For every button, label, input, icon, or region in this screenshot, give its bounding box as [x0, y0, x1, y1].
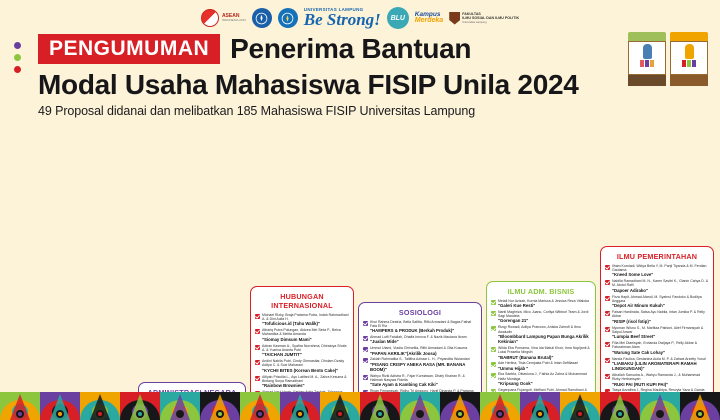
entry-text: Athariq Putra Pulungan, Aldzea Mei Sinta…	[262, 328, 349, 342]
entry-business-name: "Kneed Some Love"	[612, 272, 709, 277]
column-title-hubungan-internasional: HUBUNGAN INTERNASIONAL	[255, 292, 349, 310]
entry-business-name: "PISANG CRISPY ANEKA RASA (MR. BANANA BO…	[370, 362, 477, 372]
entry-text: Firza Hapit, Ahmad Afandi, M. Syahrul Fa…	[612, 295, 709, 309]
entry-student-names: Nabilla Ramadhani M. N., Karen Savitri K…	[612, 279, 709, 288]
entry-text: Michael Rizky, Braja Pratama Putra, Inda…	[262, 313, 349, 327]
blu-logo: BLU	[387, 7, 409, 29]
entry-text: Ade Herlina, Tisla Cempaka Putri & Intan…	[498, 361, 591, 371]
be-strong-logo: UNIVERSITAS LAMPUNG Be Strong!	[304, 7, 381, 28]
food-cart-right	[670, 32, 708, 86]
check-icon	[255, 329, 260, 334]
recipient-entry: Ahmad Lutfi Fatullah, Dhaffa Innova F. &…	[363, 335, 477, 345]
entry-student-names: Zakiah Rahmatika S., Tallitha Azhaar L. …	[370, 357, 477, 361]
entry-text: Athallah Samudra A., Wahyu Ramanda J., &…	[612, 373, 709, 387]
logo-strip: ASEAN INDONESIA 2023 UNIVERSITAS LAMPUNG…	[0, 0, 720, 32]
bottom-pattern-border	[0, 392, 720, 420]
asean-icon	[201, 9, 219, 27]
entry-text: Nanti Maghriza, Mico Juanu, Corliya Wibb…	[498, 310, 591, 324]
entry-text: Nabilla Ramadhani M. N., Karen Savitri K…	[612, 279, 709, 293]
recipient-entry: Eka Saetria, Oktaviona J., Fathia Az Zah…	[491, 372, 591, 386]
pattern-tile	[320, 392, 360, 420]
check-icon	[363, 336, 368, 341]
pattern-tile	[40, 392, 80, 420]
check-icon	[255, 314, 260, 319]
entry-student-names: Faisan Hardinata, Satsa Ayu Nabila, Inta…	[612, 310, 709, 319]
check-icon	[363, 358, 368, 363]
recipient-entry: Michael Rizky, Braja Pratama Putra, Inda…	[255, 313, 349, 327]
check-icon	[255, 345, 260, 350]
pattern-tile	[680, 392, 720, 420]
recipient-entry: Athallah Samudra A., Wahyu Ramanda J., &…	[605, 373, 709, 387]
entry-student-names: Alfiyah Priscilia L., Ayu Latifani M. A.…	[262, 375, 349, 384]
entry-text: Andini Nabila Putri, Cindy Gimnastiar, D…	[262, 359, 349, 373]
entry-text: Wilda Eka Purnama, Vina Ida Matuil Khoir…	[498, 346, 591, 360]
entry-business-name: "Bloombbard Lampung Papan Bunga Akrilik …	[498, 334, 591, 344]
entry-student-names: Ummul Utami, Viadia Chrisellia, Rifki Ar…	[370, 346, 477, 350]
recipient-entry: Adnan Kasman A., Syafira Nurrahma, Dhira…	[255, 344, 349, 358]
recipient-entry: Melati Nur Azizah, Kurnia Marisca & Jess…	[491, 299, 591, 309]
recipient-entry: Firza Hapit, Ahmad Afandi, M. Syahrul Fa…	[605, 295, 709, 309]
recipient-entry: Andini Nabila Putri, Cindy Gimnastiar, D…	[255, 359, 349, 373]
pattern-tile	[440, 392, 480, 420]
entry-student-names: Filia Mei Dianisyah, Ervianda Dwijaya P.…	[612, 341, 709, 350]
pattern-tile	[240, 392, 280, 420]
check-icon	[491, 326, 496, 331]
check-icon	[363, 347, 368, 352]
entry-text: Ahmad Lutfi Fatullah, Dhaffa Innova F. &…	[370, 335, 477, 345]
unila-logo	[278, 8, 298, 28]
pattern-tile	[560, 392, 600, 420]
entry-business-name: "PAPAN AKRILIK"(Akrilik Joosa)	[370, 351, 477, 356]
entry-business-name: "Jualan Mide"	[370, 339, 477, 344]
entry-business-name: "Depot Air Minum Kukuh"	[612, 303, 709, 308]
entry-business-name: "Warung Sate Cak Lohay"	[612, 350, 709, 355]
fisip-line3: Universitas Lampung	[462, 21, 519, 24]
recipient-entry: Ummul Utami, Viadia Chrisellia, Rifki Ar…	[363, 346, 477, 356]
pattern-tile	[200, 392, 240, 420]
entry-business-name: "Sate Ayam & Kambing Cak Kiki"	[370, 382, 477, 387]
entry-text: Khoi Rahma Destria, Bella Safitla, Rifki…	[370, 320, 477, 334]
entry-business-name: "Gorengan 21"	[498, 318, 591, 323]
recipient-entry: Ilham Kurniadi, Widya Bella Y, M. Panji …	[605, 264, 709, 278]
recipient-entry: Nanti Maghriza, Mico Juanu, Corliya Wibb…	[491, 310, 591, 324]
check-icon	[605, 358, 610, 363]
pattern-tile	[120, 392, 160, 420]
check-icon	[605, 327, 610, 332]
entry-business-name: "Dapoer Adirako"	[612, 288, 709, 293]
pattern-tile	[600, 392, 640, 420]
entry-text: Adnan Kasman A., Syafira Nurrahma, Dhira…	[262, 344, 349, 358]
entry-business-name: "TAICHAN JUMTIT"	[262, 352, 349, 357]
page-subtitle: 49 Proposal didanai dan melibatkan 185 M…	[38, 104, 720, 118]
entry-business-name: "RUKI PAI (RUTI KUPI PAI)"	[612, 382, 709, 387]
tutwuri-logo	[252, 8, 272, 28]
recipient-entry: Alfiyah Priscilia L., Ayu Latifani M. A.…	[255, 375, 349, 389]
recipient-entry: Athariq Putra Pulungan, Aldzea Mei Sinta…	[255, 328, 349, 342]
check-icon	[491, 362, 496, 367]
column-title-ilmu-pemerintahan: ILMU PEMERINTAHAN	[605, 252, 709, 261]
entry-business-name: "RISIP (risol fotip)"	[612, 319, 709, 324]
entry-business-name: "Kripsang Ocok"	[498, 381, 591, 386]
check-icon	[255, 360, 260, 365]
entry-business-name: "HAMPERS & PRODUK (Berkah Produk)"	[370, 328, 477, 333]
fisip-logo: FAKULTAS ILMU SOSIAL DAN ILMU POLITIK Un…	[449, 12, 519, 25]
entry-student-names: Athariq Putra Pulungan, Aldzea Mei Sinta…	[262, 328, 349, 337]
check-icon	[363, 321, 368, 326]
page-title-line1: Penerima Bantuan	[230, 35, 471, 63]
recipient-entry: Filia Mei Dianisyah, Ervianda Dwijaya P.…	[605, 341, 709, 355]
entry-student-names: Andini Nabila Putri, Cindy Gimnastiar, D…	[262, 359, 349, 368]
pattern-tile	[520, 392, 560, 420]
entry-student-names: Michael Rizky, Braja Pratama Putra, Inda…	[262, 313, 349, 322]
check-icon	[255, 376, 260, 381]
entry-business-name: "Rainbow Brownies"	[262, 383, 349, 388]
pattern-tile	[0, 392, 40, 420]
pattern-tile	[80, 392, 120, 420]
pattern-tile	[400, 392, 440, 420]
recipient-entry: Rizqy Rowadi, Aditya Pranowo, Aniska Zah…	[491, 325, 591, 344]
pattern-tile	[640, 392, 680, 420]
asean-logo-line2: INDONESIA 2023	[222, 19, 246, 22]
entry-text: Eka Saetria, Oktaviona J., Fathia Az Zah…	[498, 372, 591, 386]
entry-business-name: "LIABAKU (LILIN AROMATERAPI RAMAH LINGKU…	[612, 361, 709, 371]
check-icon	[363, 375, 368, 380]
check-icon	[491, 300, 496, 305]
title-block: PENGUMUMAN Penerima Bantuan Modal Usaha …	[0, 32, 720, 118]
entry-student-names: Rizqy Rowadi, Aditya Pranowo, Aniska Zah…	[498, 325, 591, 334]
entry-student-names: Ilham Kurniadi, Widya Bella Y, M. Panji …	[612, 264, 709, 273]
recipient-entry: Nanda Faulica, Destanina Aulia M. P. & Z…	[605, 357, 709, 372]
recipient-columns: ILMU KOMUNIKASIM Alfindo Maulana, Muhamm…	[0, 118, 720, 420]
entry-business-name: "Tofulicious.id (Tahu Walik)"	[262, 321, 349, 326]
unila-icon	[281, 12, 294, 25]
check-icon	[605, 265, 610, 270]
check-icon	[605, 280, 610, 285]
entry-student-names: Wilda Eka Purnama, Vina Ida Matuil Khoir…	[498, 346, 591, 355]
entry-student-names: Athallah Samudra A., Wahyu Ramanda J., &…	[612, 373, 709, 382]
column-title-ilmu-adm-bisnis: ILMU ADM. BISNIS	[491, 287, 591, 296]
entry-student-names: Nyoman Wisnu S., M. Marlitaa Patrioni, A…	[612, 326, 709, 335]
pattern-tile	[280, 392, 320, 420]
entry-student-names: Wahyu Rizki Adistra R., Fajar Kurniawan,…	[370, 374, 477, 383]
pattern-tile	[480, 392, 520, 420]
entry-text: Rizqy Rowadi, Aditya Pranowo, Aniska Zah…	[498, 325, 591, 344]
food-cart-illustrations	[628, 32, 708, 86]
entry-text: Ilham Kurniadi, Widya Bella Y, M. Panji …	[612, 264, 709, 278]
pengumuman-badge: PENGUMUMAN	[38, 34, 220, 64]
kampus-merdeka-logo: Kampus Merdeka	[415, 12, 443, 25]
pattern-tile	[160, 392, 200, 420]
fisip-shield-icon	[449, 12, 460, 25]
entry-student-names: Eka Saetria, Oktaviona J., Fathia Az Zah…	[498, 372, 591, 381]
entry-student-names: Nanti Maghriza, Mico Juanu, Corliya Wibb…	[498, 310, 591, 319]
entry-text: Nanda Faulica, Destanina Aulia M. P. & Z…	[612, 357, 709, 372]
recipient-entry: Zakiah Rahmatika S., Tallitha Azhaar L. …	[363, 357, 477, 372]
entry-business-name: "Lumpia Beef Street"	[612, 334, 709, 339]
check-icon	[491, 311, 496, 316]
check-icon	[605, 374, 610, 379]
recipient-entry: Wahyu Rizki Adistra R., Fajar Kurniawan,…	[363, 374, 477, 388]
entry-text: Faisan Hardinata, Satsa Ayu Nabila, Inta…	[612, 310, 709, 324]
check-icon	[605, 342, 610, 347]
check-icon	[491, 373, 496, 378]
check-icon	[605, 311, 610, 316]
entry-business-name: "Galeri Kue Resti"	[498, 303, 591, 308]
recipient-entry: Ade Herlina, Tisla Cempaka Putri & Intan…	[491, 361, 591, 371]
entry-business-name: "Ummu Hijab "	[498, 366, 591, 371]
kampus-merdeka-line2: Merdeka	[415, 17, 443, 24]
entry-business-name: "BABRUT (Banana Brutal)"	[498, 355, 591, 360]
entry-text: Melati Nur Azizah, Kurnia Marisca & Jess…	[498, 299, 591, 309]
be-strong-text: Be Strong!	[304, 12, 381, 28]
pattern-tile	[360, 392, 400, 420]
check-icon	[605, 296, 610, 301]
tutwuri-icon	[255, 12, 268, 25]
asean-logo: ASEAN INDONESIA 2023	[201, 9, 246, 27]
entry-text: Wahyu Rizki Adistra R., Fajar Kurniawan,…	[370, 374, 477, 388]
recipient-entry: Khoi Rahma Destria, Bella Safitla, Rifki…	[363, 320, 477, 334]
entry-text: Alfiyah Priscilia L., Ayu Latifani M. A.…	[262, 375, 349, 389]
page-title-line2: Modal Usaha Mahasiswa FISIP Unila 2024	[38, 71, 720, 99]
entry-business-name: "KYCHII BITES (Korean Bento Cake)"	[262, 368, 349, 373]
entry-text: Nyoman Wisnu S., M. Marlitaa Patrioni, A…	[612, 326, 709, 340]
entry-student-names: Adnan Kasman A., Syafira Nurrahma, Dhira…	[262, 344, 349, 353]
recipient-entry: Nabilla Ramadhani M. N., Karen Savitri K…	[605, 279, 709, 293]
entry-business-name: "Siomay Dimsum Mami"	[262, 337, 349, 342]
column-title-sosiologi: SOSIOLOGI	[363, 308, 477, 317]
check-icon	[491, 347, 496, 352]
recipient-entry: Faisan Hardinata, Satsa Ayu Nabila, Inta…	[605, 310, 709, 324]
entry-student-names: Khoi Rahma Destria, Bella Safitla, Rifki…	[370, 320, 477, 329]
recipient-entry: Wilda Eka Purnama, Vina Ida Matuil Khoir…	[491, 346, 591, 360]
recipient-entry: Nyoman Wisnu S., M. Marlitaa Patrioni, A…	[605, 326, 709, 340]
entry-text: Zakiah Rahmatika S., Tallitha Azhaar L. …	[370, 357, 477, 372]
entry-text: Filia Mei Dianisyah, Ervianda Dwijaya P.…	[612, 341, 709, 355]
entry-student-names: Firza Hapit, Ahmad Afandi, M. Syahrul Fa…	[612, 295, 709, 304]
food-cart-left	[628, 32, 666, 86]
entry-text: Ummul Utami, Viadia Chrisellia, Rifki Ar…	[370, 346, 477, 356]
